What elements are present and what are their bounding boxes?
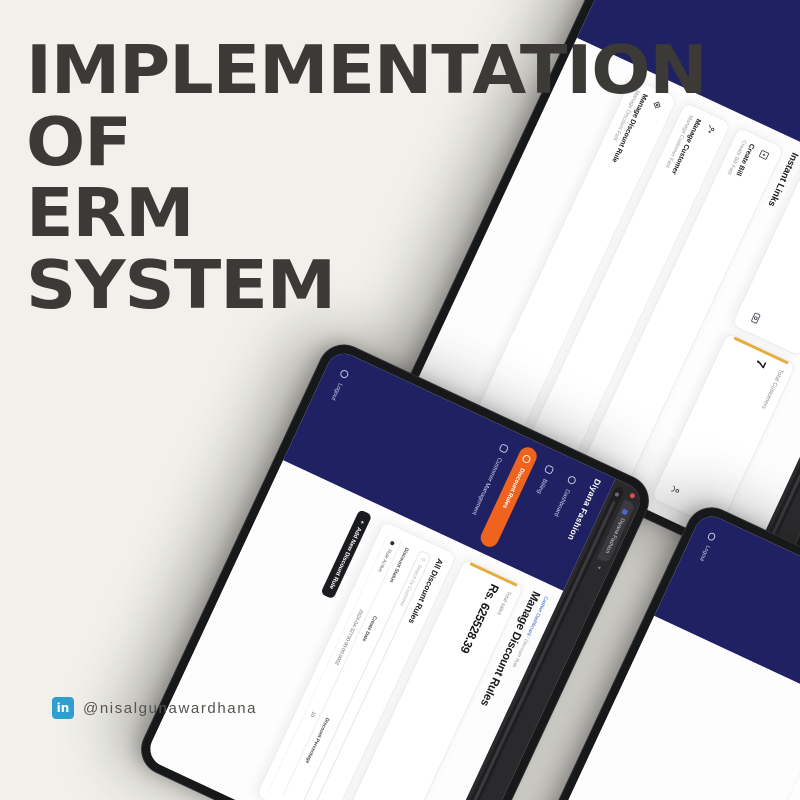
cash-icon <box>744 309 765 327</box>
bills-table: Customer ID Billing Date 0777706.44 2024… <box>709 710 800 800</box>
power-icon <box>339 369 350 380</box>
sidebar-item-label: Dashboard <box>552 488 570 517</box>
app-favicon <box>622 509 629 516</box>
grid-icon <box>566 475 577 486</box>
users-icon <box>498 443 509 454</box>
poster-canvas: Diyana Fashion ▾ Diyana Fashion <box>0 0 800 800</box>
plus-icon: + <box>358 519 365 525</box>
linkedin-icon: in <box>52 697 74 719</box>
author-credit: in @nisalgunawardhana <box>52 697 257 719</box>
users-icon <box>663 482 684 500</box>
search-icon: ⚲ <box>419 557 426 563</box>
status-dot-icon <box>390 541 395 546</box>
cell-customer-id: 0777706.44 <box>768 711 800 800</box>
logout-label: Logout <box>698 544 711 562</box>
author-handle: @nisalgunawardhana <box>83 700 257 717</box>
sidebar-item-label: Billing <box>535 477 547 494</box>
tag-icon <box>521 454 532 465</box>
window-close-dot[interactable] <box>630 493 637 500</box>
table-row[interactable]: 0777706.44 2024-04-29 <box>710 711 800 800</box>
power-icon <box>707 532 717 542</box>
chevron-down-icon[interactable]: ▾ <box>596 565 604 571</box>
headline-line-1: IMPLEMENTATION <box>26 40 608 102</box>
table-row[interactable]: 0777706.44 2024-04-32 <box>723 717 800 800</box>
receipt-icon <box>544 464 555 475</box>
table-header-row: Customer ID Billing Date <box>735 722 800 800</box>
sidebar-item-label: Discount Rules <box>501 467 525 509</box>
lock-icon <box>615 492 620 497</box>
logout-label: Logout <box>330 382 343 401</box>
